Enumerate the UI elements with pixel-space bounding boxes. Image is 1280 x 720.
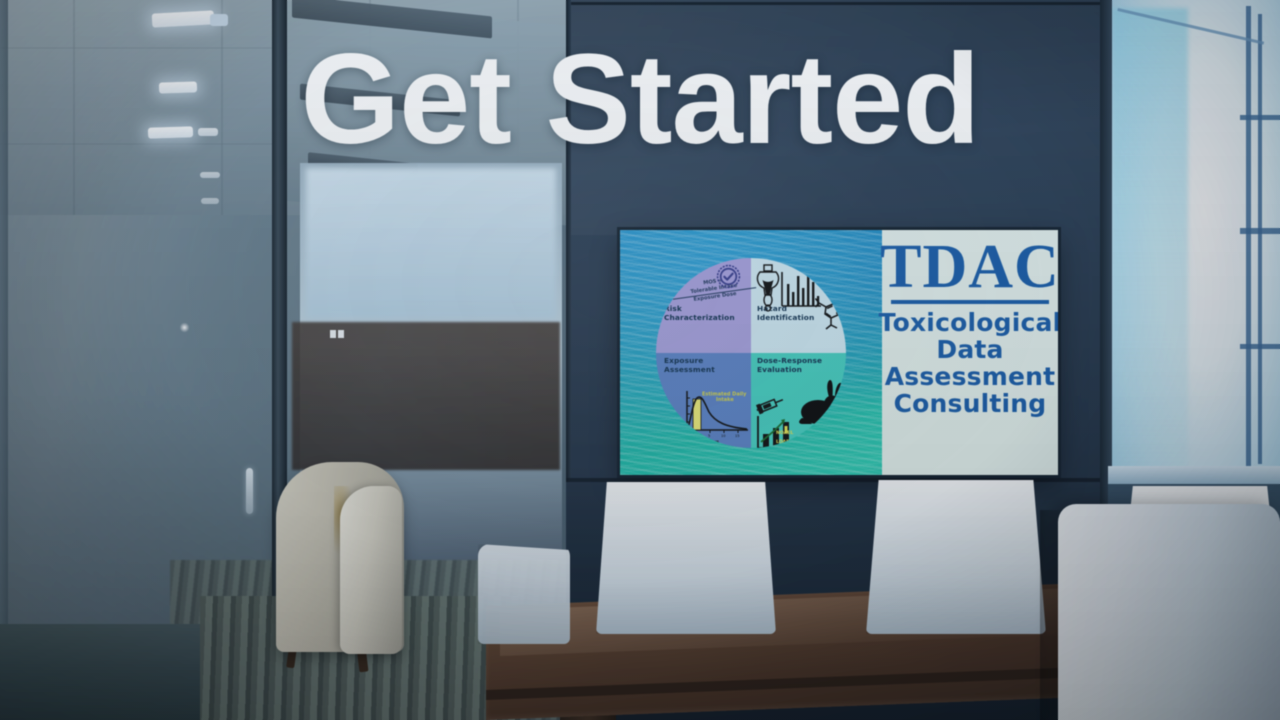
svg-text:LOAEL: LOAEL <box>776 439 792 445</box>
conference-chair <box>866 480 1046 634</box>
tdac-word-data: Data <box>936 336 1003 363</box>
wall-seam <box>566 2 1118 5</box>
window-sill <box>1108 466 1280 484</box>
tdac-divider-rule <box>891 300 1049 304</box>
syringe-icon <box>756 394 786 416</box>
svg-text:5: 5 <box>708 434 710 438</box>
svg-text:Days: Days <box>708 439 720 444</box>
tdac-acronym: TDAC <box>880 238 1058 297</box>
risk-assessment-wheel: Risk Characterization Hazard Identificat… <box>656 258 846 448</box>
glass-door-handle <box>246 468 253 514</box>
page-title: Get Started <box>0 36 1280 164</box>
presentation-screen[interactable]: Risk Characterization Hazard Identificat… <box>620 230 1058 475</box>
intake-curve-chart-icon: Estimated Daily Intake 05 1015 Days <box>678 388 750 444</box>
conference-chair-foreground <box>1058 504 1280 720</box>
window-mullion <box>1240 228 1280 234</box>
svg-text:0: 0 <box>694 434 697 438</box>
glass-reflection-spot <box>180 322 189 333</box>
separatory-funnel-icon <box>755 264 781 312</box>
bar-chart-arrow-icon: NOAEL LOAEL <box>754 414 810 448</box>
wingback-armchair-wing <box>340 486 402 654</box>
conference-chair <box>596 482 776 634</box>
chemical-structure-icon <box>814 296 846 330</box>
quadrant-label-dose: Dose-Response Evaluation <box>757 356 822 375</box>
tdac-word-toxicological: Toxicological <box>879 309 1058 336</box>
tdac-wordmark-panel: TDAC Toxicological Data Assessment Consu… <box>882 230 1058 475</box>
svg-text:NOAEL: NOAEL <box>776 430 793 436</box>
slide-canvas: Risk Characterization Hazard Identificat… <box>0 0 1280 720</box>
window-mullion <box>1240 344 1280 349</box>
svg-text:15: 15 <box>735 434 740 438</box>
tdac-word-assessment: Assessment <box>885 363 1056 390</box>
conference-chair <box>478 544 570 644</box>
quadrant-label-risk: Risk Characterization <box>664 304 735 323</box>
check-seal-icon <box>716 264 741 289</box>
svg-text:10: 10 <box>721 434 726 438</box>
quadrant-label-exposure: Exposure Assessment <box>664 356 715 375</box>
svg-text:Intake: Intake <box>716 397 734 403</box>
tdac-word-consulting: Consulting <box>894 390 1047 417</box>
